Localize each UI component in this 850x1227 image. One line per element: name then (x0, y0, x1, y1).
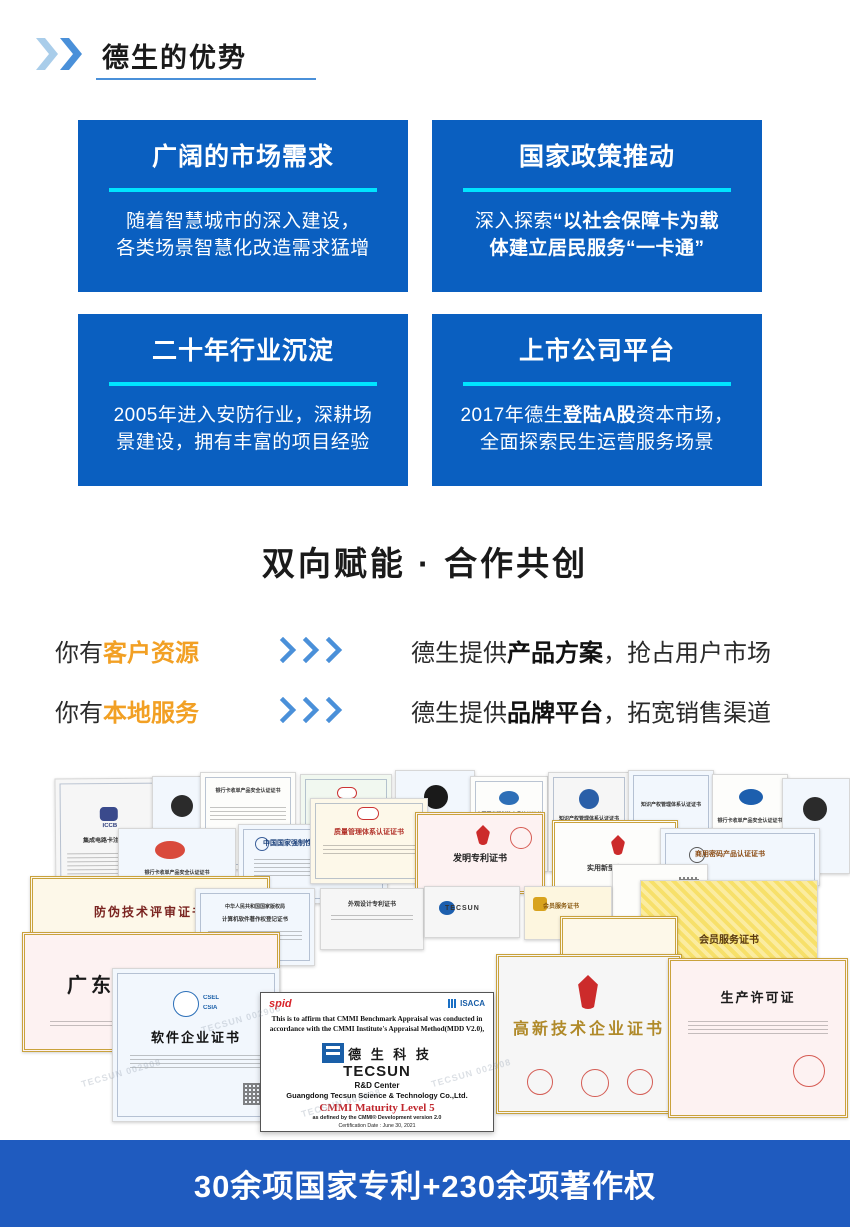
page-root: 德生的优势 广阔的市场需求 随着智慧城市的深入建设， 各类场景智慧化改造需求猛增… (0, 0, 850, 1227)
section-header: 德生的优势 (36, 38, 316, 80)
synergy-right-suffix: ，拓宽销售渠道 (603, 700, 771, 727)
cmmi-department: R&D Center (261, 1081, 493, 1090)
spid-logo: spid (269, 998, 292, 1010)
chevron-right-icon (302, 637, 322, 663)
certificate-label: 商用密码产品认证证书 (695, 849, 819, 859)
certificate-item: 发明专利证书 (415, 812, 545, 894)
cmmi-company: Guangdong Tecsun Science & Technology Co… (261, 1091, 493, 1100)
certificate-label: 银行卡收单产品安全认证证书 (713, 817, 787, 824)
synergy-rows: 你有客户资源 德生提供产品方案，抢占用户市场 你有本地服务 德生提供品牌平台，拓… (0, 628, 850, 748)
title-underline (96, 78, 316, 80)
chevron-right-icon (302, 697, 322, 723)
chevron-right-icon (325, 697, 345, 723)
synergy-left-prefix: 你有 (55, 640, 103, 667)
synergy-left-1: 你有客户资源 (55, 633, 273, 668)
synergy-title: 双向赋能 · 合作共创 (0, 537, 850, 585)
tecsun-logo-icon (322, 1043, 344, 1063)
certificate-label: 外观设计专利证书 (321, 899, 423, 908)
card-body-line1-regular: 2017年德生 (460, 405, 563, 426)
certificate-collage: ICCB 集成电路卡注册证书 银行卡收单产品安全认证证书 环境管理体系认证证书 … (0, 768, 850, 1140)
certificate-label: 银行卡收单产品安全认证证书 (119, 869, 235, 876)
isaca-label: ISACA (460, 999, 485, 1008)
cmmi-affirm-text: This is to affirm that CMMI Benchmark Ap… (269, 1015, 485, 1034)
card-body-line2: 各类场景智慧化改造需求猛增 (116, 238, 370, 259)
card-body-line2-bold: 体建立居民服务“一卡通” (489, 238, 704, 259)
chevron-right-icon-dark (60, 38, 82, 70)
card-title: 二十年行业沉淀 (152, 338, 334, 366)
certificate-label: 高新技术企业证书 (499, 1015, 679, 1039)
card-body: 2017年德生登陆A股资本市场， 全面探索民生运营服务场景 (460, 402, 733, 457)
synergy-left-highlight: 客户资源 (103, 640, 199, 667)
card-title: 广阔的市场需求 (152, 144, 334, 172)
card-body-line1-bold: 登陆A股 (563, 405, 636, 426)
certificate-label: 软件企业证书 (113, 1027, 279, 1046)
advantage-card-2: 国家政策推动 深入探索“以社会保障卡为载 体建立居民服务“一卡通” (432, 120, 762, 292)
card-body-line1-bold: “以社会保障卡为载 (553, 211, 719, 232)
cmmi-affirm-line2: accordance with the CMMI Institute's App… (270, 1025, 484, 1033)
cmmi-expiration-date: Expiration Date : June 30, 2024 (261, 1131, 493, 1132)
certificate-item: 生产许可证 (668, 958, 848, 1118)
synergy-right-bold: 品牌平台 (507, 700, 603, 727)
card-body-line1-tail: 资本市场， (636, 405, 734, 426)
certificate-label: 银行卡收单产品安全认证证书 (201, 787, 295, 794)
synergy-right-2: 德生提供品牌平台，拓宽销售渠道 (393, 693, 771, 728)
cmmi-dates: Certification Date : June 30, 2021 Expir… (261, 1123, 493, 1132)
synergy-left-highlight: 本地服务 (103, 700, 199, 727)
synergy-right-prefix: 德生提供 (411, 640, 507, 667)
certificate-label: 质量管理体系认证证书 (311, 827, 427, 837)
certificate-label: 生产许可证 (671, 987, 845, 1006)
card-body-line1: 随着智慧城市的深入建设， (126, 211, 360, 232)
card-title: 上市公司平台 (519, 338, 675, 366)
chevron-right-icon (279, 697, 299, 723)
advantage-card-1: 广阔的市场需求 随着智慧城市的深入建设， 各类场景智慧化改造需求猛增 (78, 120, 408, 292)
certificate-label: 会员服务证书 (543, 901, 611, 910)
synergy-row-1: 你有客户资源 德生提供产品方案，抢占用户市场 (0, 628, 850, 672)
card-body: 2005年进入安防行业，深耕场 景建设，拥有丰富的项目经验 (114, 402, 373, 457)
advantage-card-4: 上市公司平台 2017年德生登陆A股资本市场， 全面探索民生运营服务场景 (432, 314, 762, 486)
card-body-line2: 全面探索民生运营服务场景 (480, 432, 714, 453)
certificate-item: TECSUN (424, 886, 520, 938)
synergy-right-prefix: 德生提供 (411, 700, 507, 727)
certificate-label: 计算机软件著作权登记证书 (196, 915, 314, 923)
footer-banner: 30余项国家专利+230余项著作权 (0, 1140, 850, 1227)
cmmi-certificate: spid ISACA This is to affirm that CMMI B… (260, 992, 494, 1132)
certificate-item: 质量管理体系认证证书 (310, 798, 428, 884)
synergy-row-2: 你有本地服务 德生提供品牌平台，拓宽销售渠道 (0, 688, 850, 732)
card-body-line1-regular: 深入探索 (475, 211, 553, 232)
triple-chevron-icon-1 (273, 637, 393, 663)
tecsun-logo-en: TECSUN (261, 1063, 493, 1080)
triple-chevron-icon-2 (273, 697, 393, 723)
isaca-mark-icon (448, 999, 457, 1008)
card-divider (109, 188, 377, 192)
certificate-label: 中华人民共和国国家版权局 (196, 903, 314, 910)
footer-text: 30余项国家专利+230余项著作权 (194, 1161, 656, 1206)
card-body-line1: 2005年进入安防行业，深耕场 (114, 405, 373, 426)
certificate-label: TECSUN (445, 905, 519, 912)
certificate-label: 知识产权管理体系认证证书 (629, 801, 713, 808)
card-body-line2: 景建设，拥有丰富的项目经验 (116, 432, 370, 453)
cmmi-affirm-line1: This is to affirm that CMMI Benchmark Ap… (272, 1015, 483, 1023)
card-body: 随着智慧城市的深入建设， 各类场景智慧化改造需求猛增 (116, 208, 370, 263)
synergy-right-bold: 产品方案 (507, 640, 603, 667)
card-body: 深入探索“以社会保障卡为载 体建立居民服务“一卡通” (475, 208, 719, 263)
certificate-item: 外观设计专利证书 (320, 888, 424, 950)
certificate-item: CSEL CSIA 软件企业证书 (112, 968, 280, 1122)
synergy-left-prefix: 你有 (55, 700, 103, 727)
tecsun-logo-row: 德 生 科 技 (261, 1043, 493, 1063)
card-title: 国家政策推动 (519, 144, 675, 172)
double-chevron-icon (36, 38, 82, 80)
cmmi-certification-date: Certification Date : June 30, 2021 (261, 1123, 493, 1131)
synergy-right-1: 德生提供产品方案，抢占用户市场 (393, 633, 771, 668)
cmmi-defined-by: as defined by the CMMI® Development vers… (261, 1115, 493, 1121)
advantage-card-3: 二十年行业沉淀 2005年进入安防行业，深耕场 景建设，拥有丰富的项目经验 (78, 314, 408, 486)
synergy-left-2: 你有本地服务 (55, 693, 273, 728)
card-divider (463, 382, 731, 386)
chevron-right-icon (279, 637, 299, 663)
chevron-right-icon-light (36, 38, 58, 70)
card-divider (109, 382, 377, 386)
card-divider (463, 188, 731, 192)
certificate-item: 高新技术企业证书 (496, 954, 682, 1114)
isaca-logo: ISACA (448, 999, 485, 1008)
advantage-card-grid: 广阔的市场需求 随着智慧城市的深入建设， 各类场景智慧化改造需求猛增 国家政策推… (78, 120, 778, 486)
page-title: 德生的优势 (96, 43, 316, 78)
certificate-label: 发明专利证书 (418, 851, 542, 864)
chevron-right-icon (325, 637, 345, 663)
cmmi-level: CMMI Maturity Level 5 (261, 1102, 493, 1114)
synergy-right-suffix: ，抢占用户市场 (603, 640, 771, 667)
section-title-wrap: 德生的优势 (96, 43, 316, 80)
tecsun-logo-cn: 德 生 科 技 (348, 1044, 432, 1063)
